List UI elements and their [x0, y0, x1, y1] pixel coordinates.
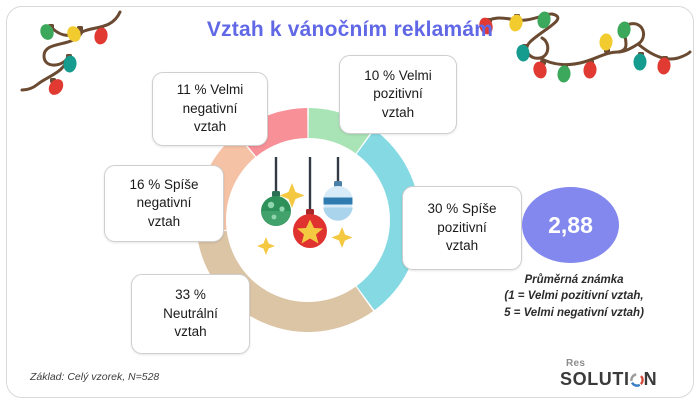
callout-very-positive-line3: vztah [364, 104, 432, 123]
page-title: Vztah k vánočním reklamám [0, 18, 700, 42]
mean-score-badge: 2,88 [522, 187, 619, 263]
mean-score-caption: Průměrná známka (1 = Velmi pozitivní vzt… [488, 272, 660, 321]
callout-rather-positive-line2: pozitivní [427, 219, 496, 238]
infographic-slide: Vztah k vánočním reklamám [0, 0, 700, 404]
callout-very-positive-line1: 10 % Velmi [364, 67, 432, 86]
callout-neutral-line3: vztah [163, 323, 218, 342]
logo-solution-word: SOLUTIN [560, 369, 657, 390]
callout-rather-negative-line3: vztah [129, 213, 198, 232]
mean-score-caption-line2: (1 = Velmi pozitivní vztah, [488, 288, 660, 304]
mean-score-caption-line3: 5 = Velmi negativní vztah) [488, 305, 660, 321]
callout-rather-positive-line3: vztah [427, 237, 496, 256]
mean-score-caption-line1: Průměrná známka [488, 272, 660, 288]
logo-res-word: Res [566, 358, 585, 369]
callout-very-negative: 11 % Velmi negativní vztah [152, 72, 268, 146]
logo-circle-icon [630, 373, 644, 387]
logo-solution-part2: N [644, 369, 658, 389]
callout-neutral-line1: 33 % [163, 286, 218, 305]
mean-score-value: 2,88 [548, 212, 593, 239]
callout-neutral-line2: Neutrální [163, 305, 218, 324]
callout-rather-negative: 16 % Spíše negativní vztah [104, 165, 224, 242]
callout-rather-negative-line2: negativní [129, 194, 198, 213]
callout-very-positive-line2: pozitivní [364, 85, 432, 104]
callout-rather-positive-line1: 30 % Spíše [427, 200, 496, 219]
callout-very-negative-line2: negativní [177, 100, 244, 119]
callout-neutral: 33 % Neutrální vztah [131, 274, 250, 354]
callout-rather-negative-line1: 16 % Spíše [129, 176, 198, 195]
res-solution-logo: Res SOLUTIN [560, 358, 672, 394]
callout-very-negative-line1: 11 % Velmi [177, 81, 244, 100]
base-footnote: Základ: Celý vzorek, N=528 [30, 371, 159, 383]
logo-solution-part1: SOLUTI [560, 369, 630, 389]
callout-rather-positive: 30 % Spíše pozitivní vztah [402, 186, 522, 270]
callout-very-negative-line3: vztah [177, 118, 244, 137]
callout-very-positive: 10 % Velmi pozitivní vztah [339, 55, 457, 134]
